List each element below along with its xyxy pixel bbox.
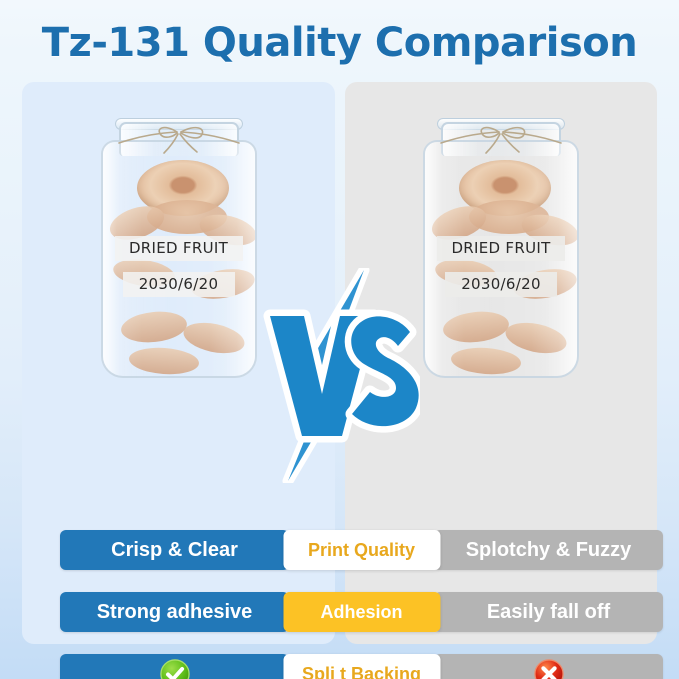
row-2-right-value: Easily fall off xyxy=(434,592,663,632)
jar-label-date-right: 2030/6/20 xyxy=(445,272,557,297)
row-3-right-value xyxy=(434,654,663,679)
row-2-feature-label: Adhesion xyxy=(283,592,440,632)
page-title: Tz-131 Quality Comparison xyxy=(0,20,679,66)
row-3-left-value xyxy=(60,654,289,679)
comparison-panels: DRIED FRUIT 2030/6/20 xyxy=(22,82,657,644)
comparison-row: Strong adhesive Adhesion Easily fall off xyxy=(60,592,663,632)
check-icon xyxy=(160,659,190,679)
jar-image-right: DRIED FRUIT 2030/6/20 xyxy=(401,100,601,390)
row-2-left-value: Strong adhesive xyxy=(60,592,289,632)
jar-label-product-left: DRIED FRUIT xyxy=(115,236,243,261)
row-1-feature-label: Print Quality xyxy=(283,530,440,570)
row-3-feature-label: Spli t Backing xyxy=(283,654,440,679)
comparison-table: Crisp & Clear Print Quality Splotchy & F… xyxy=(60,530,663,679)
cross-icon xyxy=(534,659,564,679)
jar-image-left: DRIED FRUIT 2030/6/20 xyxy=(79,100,279,390)
twine-bow-icon xyxy=(117,126,241,156)
twine-bow-icon xyxy=(439,126,563,156)
comparison-row: Spli t Backing xyxy=(60,654,663,679)
jar-label-date-left: 2030/6/20 xyxy=(123,272,235,297)
jar-label-product-right: DRIED FRUIT xyxy=(437,236,565,261)
row-1-right-value: Splotchy & Fuzzy xyxy=(434,530,663,570)
row-1-left-value: Crisp & Clear xyxy=(60,530,289,570)
comparison-row: Crisp & Clear Print Quality Splotchy & F… xyxy=(60,530,663,570)
